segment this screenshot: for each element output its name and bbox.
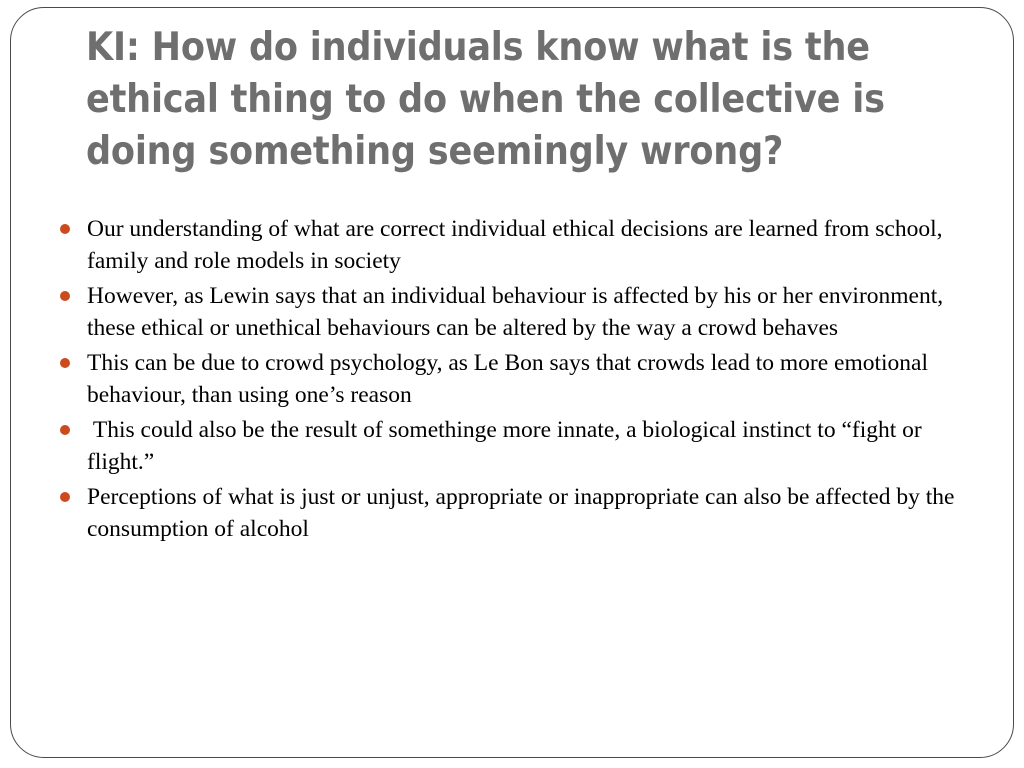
bullet-point-icon: [60, 291, 70, 301]
list-item-text: This could also be the result of somethi…: [87, 415, 986, 478]
list-item: Our understanding of what are correct in…: [52, 214, 986, 277]
list-item-text: This can be due to crowd psychology, as …: [87, 348, 986, 411]
bullet-list: Our understanding of what are correct in…: [52, 214, 986, 549]
bullet-point-icon: [60, 358, 70, 368]
bullet-point-icon: [60, 425, 70, 435]
list-item: Perceptions of what is just or unjust, a…: [52, 482, 986, 545]
list-item: This could also be the result of somethi…: [52, 415, 986, 478]
list-item-text: However, as Lewin says that an individua…: [87, 281, 986, 344]
slide-title: KI: How do individuals know what is the …: [86, 22, 966, 178]
bullet-point-icon: [60, 224, 70, 234]
list-item-text: Perceptions of what is just or unjust, a…: [87, 482, 986, 545]
presentation-slide: KI: How do individuals know what is the …: [0, 0, 1024, 768]
bullet-point-icon: [60, 492, 70, 502]
list-item-text: Our understanding of what are correct in…: [87, 214, 986, 277]
list-item: However, as Lewin says that an individua…: [52, 281, 986, 344]
list-item: This can be due to crowd psychology, as …: [52, 348, 986, 411]
